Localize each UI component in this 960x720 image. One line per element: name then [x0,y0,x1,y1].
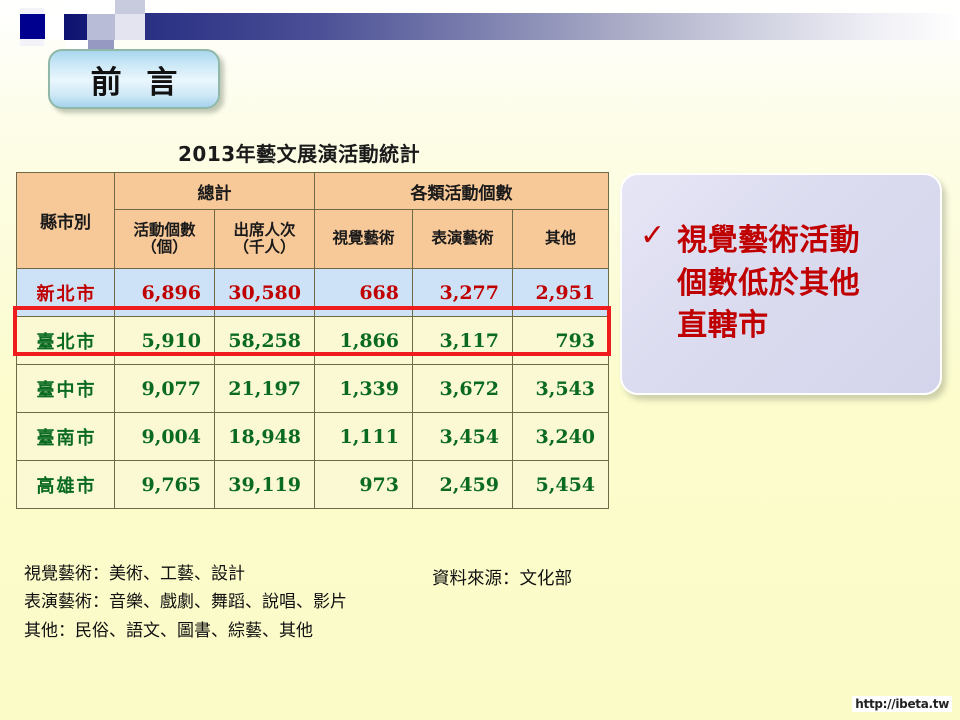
cell-city: 新北市 [17,269,115,317]
cell-attendance: 18,948 [215,413,315,461]
column-header-other: 其他 [513,210,609,269]
cell-performing-art: 3,117 [413,317,513,365]
check-icon: ✓ [640,221,665,251]
statistics-table: 縣市別 總計 各類活動個數 活動個數 （個） 出席人次 （千人） 視覺藝術 表演… [16,172,609,509]
callout-text: 視覺藝術活動 個數低於其他 直轄市 [677,220,860,348]
cell-performing-art: 3,672 [413,365,513,413]
cell-activity-count: 5,910 [115,317,215,365]
cell-attendance: 21,197 [215,365,315,413]
column-header-attendance-line2: （千人） [233,238,295,256]
table-row: 臺北市 5,910 58,258 1,866 3,117 793 [17,317,609,365]
cell-other: 2,951 [513,269,609,317]
banner-square-lavender-2 [115,14,145,40]
callout-text-line1: 視覺藝術活動 [677,220,860,263]
cell-other: 5,454 [513,461,609,509]
table-header-row-groups: 縣市別 總計 各類活動個數 [17,173,609,210]
top-decorative-banner [0,0,960,48]
table-row: 高雄市 9,765 39,119 973 2,459 5,454 [17,461,609,509]
cell-activity-count: 6,896 [115,269,215,317]
source-note: 資料來源：文化部 [432,565,572,590]
cell-visual-art: 1,339 [315,365,413,413]
cell-attendance: 58,258 [215,317,315,365]
cell-performing-art: 2,459 [413,461,513,509]
table-row: 臺南市 9,004 18,948 1,111 3,454 3,240 [17,413,609,461]
table-head: 縣市別 總計 各類活動個數 活動個數 （個） 出席人次 （千人） 視覺藝術 表演… [17,173,609,269]
footnote-performing-art: 表演藝術：音樂、戲劇、舞蹈、說唱、影片 [24,588,347,616]
column-group-header-by-type: 各類活動個數 [315,173,609,210]
banner-square-top-sliver [20,8,44,14]
column-header-visual-art: 視覺藝術 [315,210,413,269]
column-header-county: 縣市別 [17,173,115,269]
watermark: http://ibeta.tw [852,696,952,712]
column-header-attendance: 出席人次 （千人） [215,210,315,269]
cell-attendance: 39,119 [215,461,315,509]
table-row: 臺中市 9,077 21,197 1,339 3,672 3,543 [17,365,609,413]
cell-city: 高雄市 [17,461,115,509]
cell-visual-art: 973 [315,461,413,509]
cell-other: 3,543 [513,365,609,413]
callout-text-line2: 個數低於其他 [677,263,860,306]
callout-box: ✓ 視覺藝術活動 個數低於其他 直轄市 [620,173,942,395]
cell-visual-art: 1,866 [315,317,413,365]
footnotes: 視覺藝術：美術、工藝、設計 表演藝術：音樂、戲劇、舞蹈、說唱、影片 其他：民俗、… [24,560,347,645]
cell-attendance: 30,580 [215,269,315,317]
column-header-activity-count-line2: （個） [141,238,188,256]
banner-square-white-2 [64,2,87,14]
slide-title-badge: 前 言 [48,49,220,109]
cell-visual-art: 1,111 [315,413,413,461]
cell-city: 臺中市 [17,365,115,413]
cell-other: 793 [513,317,609,365]
cell-performing-art: 3,277 [413,269,513,317]
cell-visual-art: 668 [315,269,413,317]
cell-other: 3,240 [513,413,609,461]
footnote-other: 其他：民俗、語文、圖書、綜藝、其他 [24,617,347,645]
column-group-header-total: 總計 [115,173,315,210]
cell-performing-art: 3,454 [413,413,513,461]
banner-square-navy [20,14,45,39]
banner-square-white-1 [45,14,64,39]
cell-activity-count: 9,765 [115,461,215,509]
banner-square-lavender-1 [115,0,145,14]
column-header-activity-count: 活動個數 （個） [115,210,215,269]
statistics-table-container: 縣市別 總計 各類活動個數 活動個數 （個） 出席人次 （千人） 視覺藝術 表演… [16,172,608,509]
page-title: 前 言 [84,57,185,102]
banner-square-white-3 [87,0,115,14]
column-header-activity-count-line1: 活動個數 [133,221,195,239]
banner-square-periwinkle-1 [87,14,115,40]
cell-activity-count: 9,004 [115,413,215,461]
cell-city: 臺南市 [17,413,115,461]
table-body: 新北市 6,896 30,580 668 3,277 2,951 臺北市 5,9… [17,269,609,509]
banner-square-bottom-sliver [20,39,44,46]
banner-gradient-bar [64,13,960,40]
column-header-attendance-line1: 出席人次 [233,221,295,239]
cell-activity-count: 9,077 [115,365,215,413]
callout-text-line3: 直轄市 [677,305,860,348]
footnote-visual-art: 視覺藝術：美術、工藝、設計 [24,560,347,588]
table-row: 新北市 6,896 30,580 668 3,277 2,951 [17,269,609,317]
table-caption: 2013年藝文展演活動統計 [178,138,420,167]
cell-city: 臺北市 [17,317,115,365]
column-header-performing-art: 表演藝術 [413,210,513,269]
